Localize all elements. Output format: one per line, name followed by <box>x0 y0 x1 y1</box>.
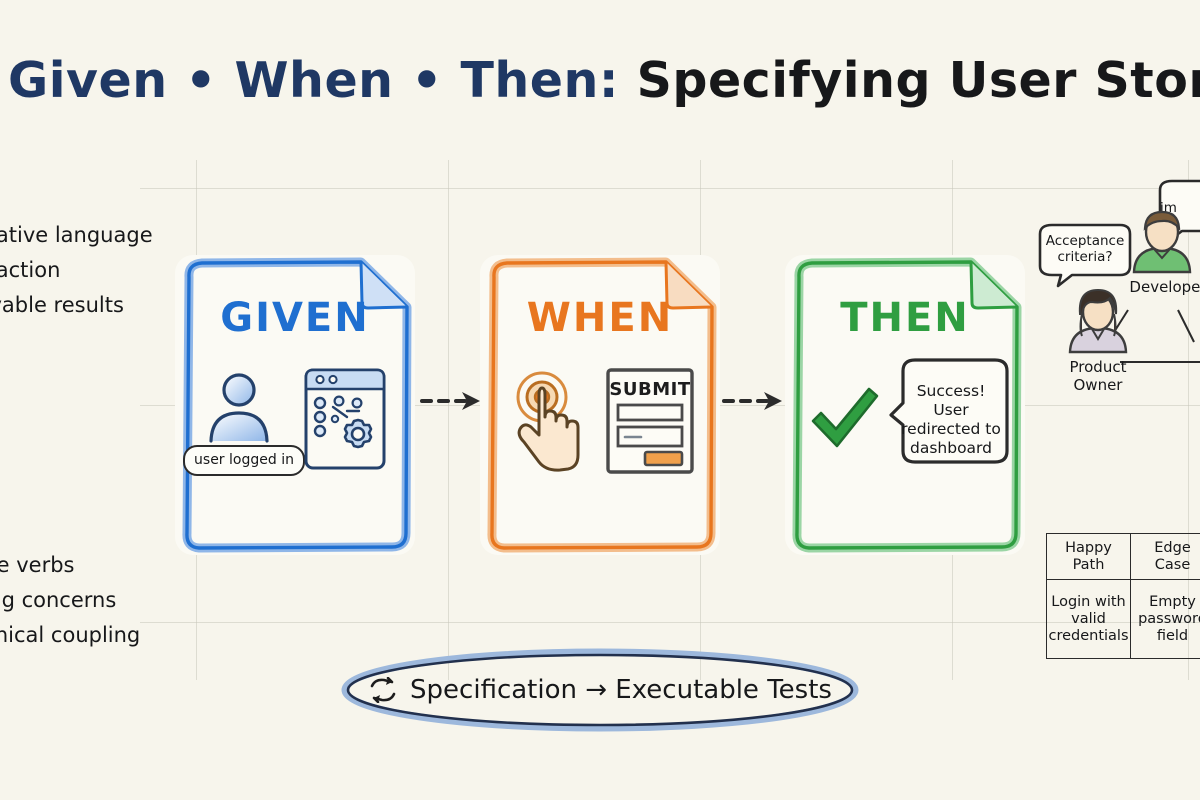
checkmark-icon <box>807 383 881 459</box>
scenario-table: Happy Path Edge Case Login with valid cr… <box>1046 533 1200 659</box>
arrow-given-to-when <box>420 388 484 414</box>
card-then-body: Success! User redirected to dashboard <box>785 365 1025 505</box>
side-note-good: clarative language gle action servable r… <box>0 218 153 323</box>
card-given-label: GIVEN <box>175 295 415 341</box>
product-owner-avatar <box>1066 288 1130 354</box>
edge-value-line-1: Empty <box>1138 594 1200 611</box>
card-then[interactable]: THEN Success! User redirected to dashboa… <box>785 255 1025 555</box>
page-title-emphasis: Given • When • Then: <box>8 52 619 109</box>
table-cell-happy-path-value: Login with valid credentials <box>1047 580 1131 658</box>
happy-value-line-2: valid <box>1048 611 1128 628</box>
cycle-icon <box>368 677 398 703</box>
page-title-rest: Specifying User Story Behavior <box>637 52 1200 109</box>
persona-product-owner[interactable]: Product Owner <box>1058 288 1138 398</box>
svg-text:SUBMIT: SUBMIT <box>609 379 690 400</box>
product-owner-name-line-1: Product <box>1058 358 1138 376</box>
submit-form-icon: SUBMIT <box>604 367 696 475</box>
then-result-text: Success! User redirected to dashboard <box>895 369 1007 471</box>
card-when-label: WHEN <box>480 295 720 341</box>
then-result-line-3: redirected to <box>901 420 1001 439</box>
user-state-pill: user logged in <box>183 445 305 476</box>
side-note-good-line-1: clarative language <box>0 218 153 253</box>
card-given-body: user logged in <box>175 365 415 505</box>
product-owner-label: Product Owner <box>1058 358 1138 394</box>
edge-case-line-1: Edge <box>1154 540 1191 557</box>
page-title: Given • When • Then: Specifying User Sto… <box>8 52 1200 109</box>
table-header-row: Happy Path Edge Case <box>1047 534 1200 580</box>
table-row: Login with valid credentials Empty passw… <box>1047 580 1200 658</box>
po-bubble-line-1: Acceptance <box>1046 233 1125 249</box>
happy-value-line-3: credentials <box>1048 628 1128 645</box>
then-result-line-4: dashboard <box>910 439 992 458</box>
card-given[interactable]: GIVEN user logged in <box>175 255 415 555</box>
side-note-bad-line-1: gue verbs <box>0 548 140 583</box>
happy-value-line-1: Login with <box>1048 594 1128 611</box>
table-header-happy-path: Happy Path <box>1047 534 1131 580</box>
side-note-good-line-3: servable results <box>0 288 153 323</box>
grid-line-v <box>448 160 449 680</box>
arrow-when-to-then <box>722 388 786 414</box>
edge-value-line-3: field <box>1138 628 1200 645</box>
table-cell-edge-case-value: Empty password field <box>1131 580 1200 658</box>
click-hand-icon <box>506 369 592 477</box>
po-bubble-line-2: criteria? <box>1057 249 1112 265</box>
side-note-good-line-2: gle action <box>0 253 153 288</box>
edge-value-line-2: password <box>1138 611 1200 628</box>
bubble-acceptance-criteria-text: Acceptance criteria? <box>1032 222 1132 278</box>
card-when[interactable]: WHEN SUBMIT <box>480 255 720 555</box>
banner-content: Specification → Executable Tests <box>338 645 862 735</box>
table-header-edge-case: Edge Case <box>1131 534 1200 580</box>
happy-path-line-2: Path <box>1065 557 1112 574</box>
diagram-canvas: Given • When • Then: Specifying User Sto… <box>0 0 1200 800</box>
browser-settings-icon <box>303 367 387 471</box>
edge-case-line-2: Case <box>1154 557 1191 574</box>
developer-avatar <box>1130 208 1194 274</box>
product-owner-name-line-2: Owner <box>1058 376 1138 394</box>
banner-label: Specification → Executable Tests <box>410 675 832 705</box>
grid-line-h <box>140 622 1200 623</box>
side-note-bad-line-2: xing concerns <box>0 583 140 618</box>
user-icon <box>203 371 275 445</box>
then-result-line-1: Success! <box>917 382 986 401</box>
card-when-body: SUBMIT <box>480 365 720 505</box>
card-then-label: THEN <box>785 295 1025 341</box>
then-result-line-2: User <box>933 401 968 420</box>
happy-path-line-1: Happy <box>1065 540 1112 557</box>
side-note-bad: gue verbs xing concerns chnical coupling <box>0 548 140 653</box>
side-note-bad-line-3: chnical coupling <box>0 618 140 653</box>
grid-line-h <box>140 188 1200 189</box>
